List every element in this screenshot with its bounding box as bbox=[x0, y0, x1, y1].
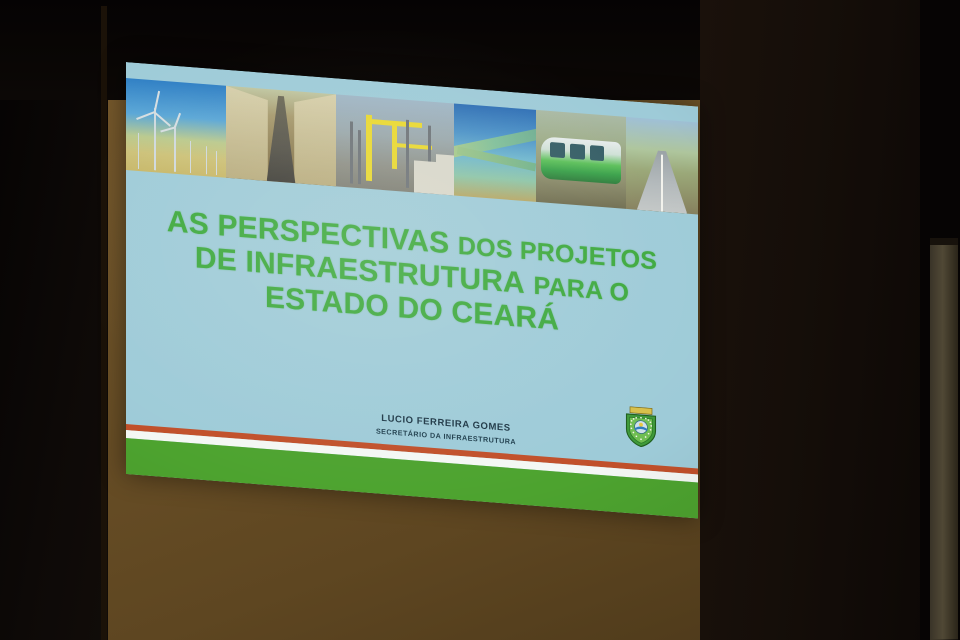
light-rail-photo bbox=[536, 110, 626, 209]
highway-works-photo bbox=[226, 86, 336, 187]
title-space-1 bbox=[449, 227, 458, 261]
port-render-photo bbox=[454, 104, 536, 202]
ceara-state-coat-of-arms-icon bbox=[624, 406, 658, 449]
screen-left-edge bbox=[101, 6, 107, 640]
side-board-panel-top bbox=[930, 238, 958, 245]
wind-turbines-photo bbox=[126, 78, 226, 178]
projected-slide: AS PERSPECTIVAS DOS PROJETOS DE INFRAEST… bbox=[126, 62, 698, 519]
side-board-panel bbox=[930, 239, 958, 640]
finished-highway-photo bbox=[626, 117, 698, 215]
gas-plant-photo bbox=[336, 94, 454, 195]
slide-canvas: AS PERSPECTIVAS DOS PROJETOS DE INFRAEST… bbox=[126, 62, 698, 519]
projected-slide-scene: AS PERSPECTIVAS DOS PROJETOS DE INFRAEST… bbox=[0, 0, 960, 640]
slide-title: AS PERSPECTIVAS DOS PROJETOS DE INFRAEST… bbox=[126, 202, 698, 348]
